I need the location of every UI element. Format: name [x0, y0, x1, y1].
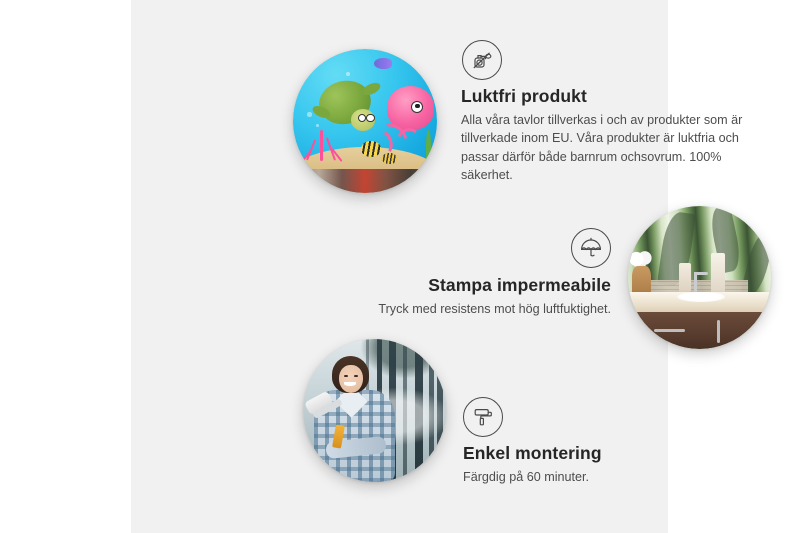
yellow-fish-icon — [361, 141, 381, 157]
feature-mount-body: Färgdig på 60 minuter. — [463, 468, 753, 487]
seaweed — [426, 130, 432, 167]
feature-water-body: Tryck med resistens mot hög luftfuktighe… — [321, 300, 611, 319]
bubble-icon — [346, 72, 350, 76]
no-smell-perfume-icon — [462, 40, 502, 80]
octopus-pupil — [415, 104, 419, 108]
photo-forest-inner — [303, 339, 446, 482]
drawer-handle — [654, 329, 685, 332]
photo-ocean-inner — [293, 49, 437, 193]
bubble-icon — [307, 112, 311, 116]
towel-roll — [711, 253, 725, 293]
turtle-eye — [366, 114, 374, 122]
feature-odour-free: Luktfri produkt Alla våra tavlor tillver… — [461, 40, 761, 185]
bubble-icon — [316, 124, 319, 127]
woman-eye — [354, 375, 358, 377]
feature-odour-title: Luktfri produkt — [461, 86, 761, 108]
photo-bottom-strip — [293, 169, 437, 193]
page-root: Luktfri produkt Alla våra tavlor tillver… — [0, 0, 800, 533]
photo-woman-paint-roller-forest — [303, 339, 446, 482]
photo-bathroom-tropical-mural — [628, 206, 771, 349]
feature-panel: Luktfri produkt Alla våra tavlor tillver… — [131, 0, 668, 533]
blue-fish-icon — [374, 58, 393, 70]
cabinet-handle — [717, 320, 720, 343]
faucet-icon — [694, 272, 697, 293]
sink-basin — [677, 292, 726, 302]
woman-eye — [344, 375, 348, 377]
photo-bathroom-inner — [628, 206, 771, 349]
feature-water-icon-wrap — [321, 228, 611, 268]
photo-ocean-kids-mural — [293, 49, 437, 193]
coral-cluster — [305, 130, 342, 173]
soap-bottle — [679, 263, 690, 292]
yellow-fish-icon — [382, 153, 396, 165]
feature-mount-title: Enkel montering — [463, 443, 753, 465]
feature-odour-body: Alla våra tavlor tillverkas i och av pro… — [461, 111, 761, 185]
paint-roller-icon — [463, 397, 503, 437]
feature-easy-mounting: Enkel montering Färgdig på 60 minuter. — [463, 397, 753, 486]
feature-water-resistant: Stampa impermeabile Tryck med resistens … — [321, 228, 611, 318]
feature-mount-icon-wrap — [463, 397, 753, 437]
umbrella-icon — [571, 228, 611, 268]
feature-odour-icon-wrap — [461, 40, 761, 80]
feature-water-title: Stampa impermeabile — [321, 275, 611, 297]
